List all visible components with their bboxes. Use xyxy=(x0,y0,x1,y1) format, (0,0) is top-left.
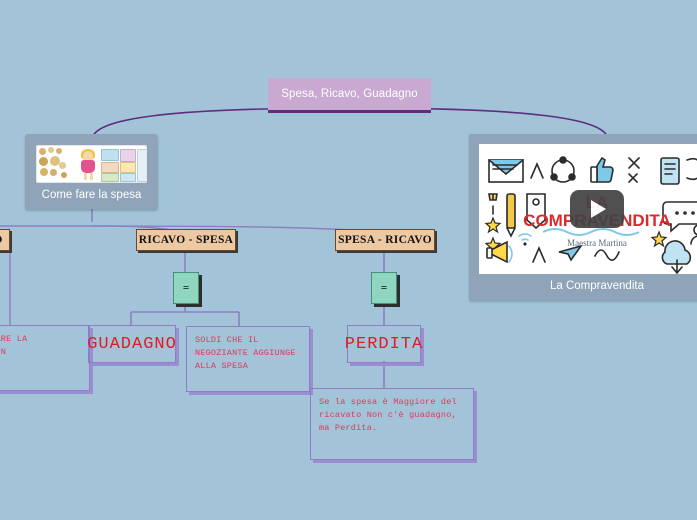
term-line-1: Se la spesa è Maggiore del xyxy=(319,396,457,409)
op-box-spesa-ricavo[interactable]: SPESA - RICAVO xyxy=(335,229,435,251)
term-line-3: ALLA SPESA xyxy=(195,360,296,373)
term-label: PERDITA xyxy=(345,335,423,354)
thumbnail-coins-girl-banknotes xyxy=(36,145,147,183)
central-node-label: Spesa, Ricavo, Guadagno xyxy=(281,88,418,100)
link-equals-left-split xyxy=(131,302,239,326)
term-label: GUADAGNO xyxy=(87,335,177,354)
svg-text:Maestra Martina: Maestra Martina xyxy=(567,238,627,248)
term-line-2: NEGOZIANTE AGGIUNGE xyxy=(195,347,296,360)
op-box-label: SPESA - RICAVO xyxy=(338,234,432,246)
play-triangle xyxy=(591,200,606,218)
central-node[interactable]: Spesa, Ricavo, Guadagno xyxy=(268,78,431,110)
equals-label: = xyxy=(381,282,387,294)
node-la-compravendita-video[interactable]: LA COMPRAVENDITA Maestra Martina La Comp… xyxy=(469,134,697,300)
mindmap-canvas: Spesa, Ricavo, Guadagno xyxy=(0,0,697,520)
op-box-label: O xyxy=(0,234,3,246)
term-box-guadagno[interactable]: GUADAGNO xyxy=(88,325,176,363)
node-caption: La Compravendita xyxy=(469,274,697,300)
equals-box-right[interactable]: = xyxy=(371,272,397,304)
term-line-1: QUISTARE LA xyxy=(0,333,27,346)
equals-label: = xyxy=(183,282,189,294)
term-line-2: DERE IN xyxy=(0,346,27,359)
node-caption: Come fare la spesa xyxy=(25,183,158,209)
op-box-label: RICAVO - SPESA xyxy=(139,234,234,246)
term-box-perdita-descrizione[interactable]: Se la spesa è Maggiore del ricavato Non … xyxy=(310,388,474,460)
op-box-ricavo-spesa[interactable]: RICAVO - SPESA xyxy=(136,229,236,251)
node-come-fare-la-spesa[interactable]: Come fare la spesa xyxy=(25,134,158,209)
play-icon[interactable] xyxy=(570,190,624,228)
term-box-soldi-descrizione[interactable]: SOLDI CHE IL NEGOZIANTE AGGIUNGE ALLA SP… xyxy=(186,326,310,392)
op-box-cut-off[interactable]: O xyxy=(0,229,10,251)
term-box-perdita[interactable]: PERDITA xyxy=(347,325,421,363)
term-line-1: SOLDI CHE IL xyxy=(195,334,296,347)
term-box-cut-off-acquistare[interactable]: QUISTARE LA DERE IN xyxy=(0,325,90,391)
term-line-2: ricavato Non c'è guadagno, xyxy=(319,409,457,422)
equals-box-left[interactable]: = xyxy=(173,272,199,304)
term-line-3: ma Perdita. xyxy=(319,422,457,435)
thumbnail-la-compravendita: LA COMPRAVENDITA Maestra Martina xyxy=(479,144,697,274)
